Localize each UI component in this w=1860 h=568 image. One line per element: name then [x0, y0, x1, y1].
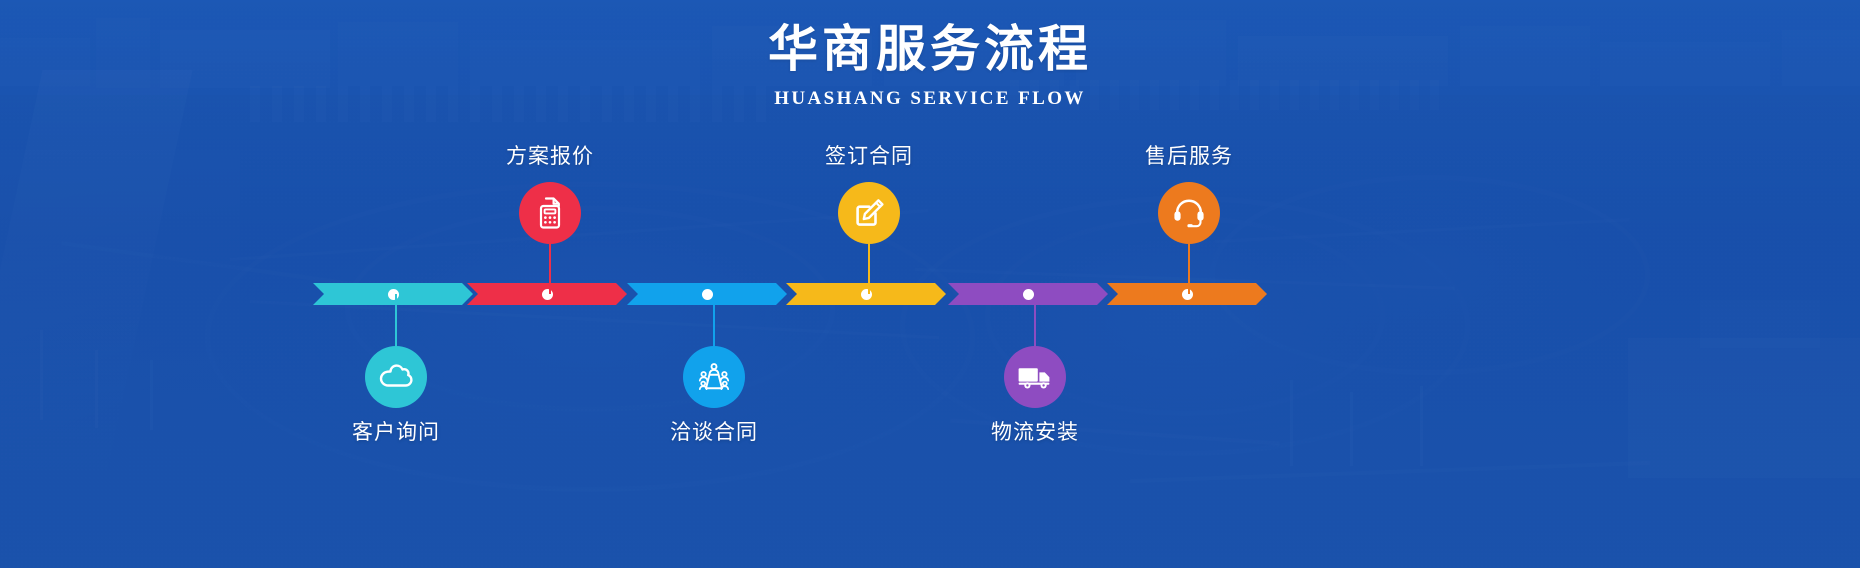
- chat-cloud-icon: [379, 362, 413, 392]
- flow-stem-6: [1188, 242, 1190, 294]
- pen-signature-icon: [852, 196, 886, 230]
- calculator-quote-icon: [535, 196, 565, 230]
- step-label-5: 物流安装: [905, 418, 1165, 446]
- flow-node-dot: [702, 289, 713, 300]
- step-icon-4[interactable]: [838, 182, 900, 244]
- flow-stem-5: [1034, 294, 1036, 350]
- flow-node-dot: [1182, 289, 1193, 300]
- step-icon-3[interactable]: [683, 346, 745, 408]
- flow-stem-4: [868, 242, 870, 294]
- flow-segment-3[interactable]: [627, 283, 787, 305]
- service-flow-banner: 华商服务流程 HUASHANG SERVICE FLOW: [0, 0, 1860, 568]
- flow-segment-5[interactable]: [948, 283, 1108, 305]
- step-icon-2[interactable]: [519, 182, 581, 244]
- banner-content: 华商服务流程 HUASHANG SERVICE FLOW: [0, 0, 1860, 568]
- step-label-1: 客户询问: [266, 418, 526, 446]
- step-icon-6[interactable]: [1158, 182, 1220, 244]
- meeting-table-icon: [697, 362, 731, 392]
- flow-stem-3: [713, 294, 715, 350]
- flow-segment-6[interactable]: [1107, 283, 1267, 305]
- page-title: 华商服务流程: [0, 18, 1860, 80]
- flow-node-dot: [1023, 289, 1034, 300]
- step-label-3: 洽谈合同: [584, 418, 844, 446]
- flow-stem-1: [395, 294, 397, 350]
- flow-stem-2: [549, 242, 551, 294]
- step-icon-5[interactable]: [1004, 346, 1066, 408]
- step-label-2: 方案报价: [420, 142, 680, 170]
- flow-segment-4[interactable]: [786, 283, 946, 305]
- delivery-truck-icon: [1017, 364, 1053, 390]
- flow-segment-2[interactable]: [467, 283, 627, 305]
- step-label-6: 售后服务: [1059, 142, 1319, 170]
- headset-support-icon: [1172, 197, 1206, 229]
- step-icon-1[interactable]: [365, 346, 427, 408]
- step-label-4: 签订合同: [739, 142, 999, 170]
- flow-segment-1[interactable]: [313, 283, 473, 305]
- page-subtitle: HUASHANG SERVICE FLOW: [0, 86, 1860, 112]
- flow-ribbon: [313, 283, 1267, 305]
